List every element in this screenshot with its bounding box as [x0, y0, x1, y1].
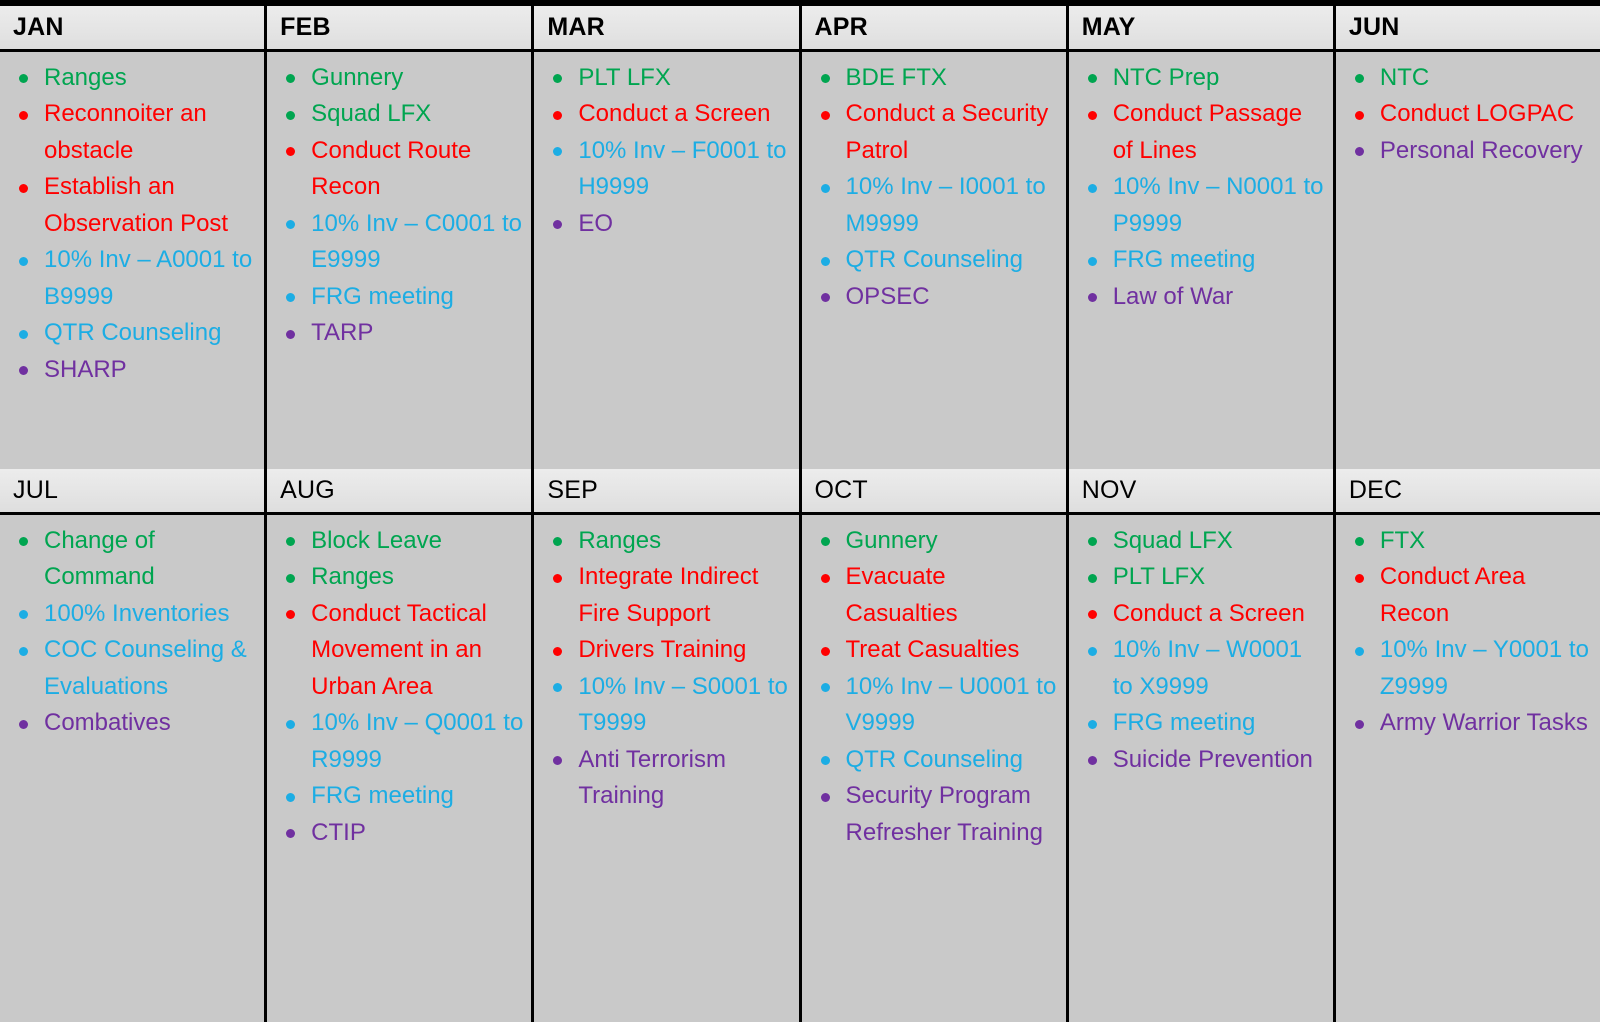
bullet-icon — [1088, 756, 1097, 765]
month-header-mar[interactable]: MAR — [534, 6, 801, 52]
month-header-band: JANFEBMARAPRMAYJUN — [0, 6, 1600, 52]
month-header-nov[interactable]: NOV — [1069, 469, 1336, 515]
task-label: 10% Inv – W0001 to X9999 — [1113, 632, 1327, 705]
task-list: NTCConduct LOGPACPersonal Recovery — [1342, 60, 1594, 169]
task-label: Gunnery — [311, 60, 525, 96]
calendar-row: JANFEBMARAPRMAYJUNRangesReconnoiter an o… — [0, 6, 1600, 469]
task-label: FRG meeting — [311, 279, 525, 315]
bullet-icon — [286, 537, 295, 546]
bullet-icon — [1355, 574, 1364, 583]
task-label: Conduct LOGPAC — [1380, 96, 1594, 132]
task-item[interactable]: QTR Counseling — [808, 742, 1060, 778]
month-body-band: RangesReconnoiter an obstacleEstablish a… — [0, 52, 1600, 469]
task-item[interactable]: Conduct Tactical Movement in an Urban Ar… — [273, 596, 525, 705]
task-label: NTC — [1380, 60, 1594, 96]
task-list: NTC PrepConduct Passage of Lines10% Inv … — [1075, 60, 1327, 315]
bullet-icon — [553, 74, 562, 83]
task-label: TARP — [311, 315, 525, 351]
bullet-icon — [1088, 111, 1097, 120]
task-label: 100% Inventories — [44, 596, 258, 632]
task-item[interactable]: Squad LFX — [1075, 523, 1327, 559]
bullet-icon — [19, 111, 28, 120]
bullet-icon — [286, 574, 295, 583]
task-label: 10% Inv – S0001 to T9999 — [578, 669, 792, 742]
task-item[interactable]: CTIP — [273, 815, 525, 851]
task-item[interactable]: FRG meeting — [273, 279, 525, 315]
task-item[interactable]: FRG meeting — [273, 778, 525, 814]
task-label: Integrate Indirect Fire Support — [578, 559, 792, 632]
task-label: QTR Counseling — [846, 242, 1060, 278]
task-label: Army Warrior Tasks — [1380, 705, 1594, 741]
task-label: Anti Terrorism Training — [578, 742, 792, 815]
task-item[interactable]: Gunnery — [808, 523, 1060, 559]
bullet-icon — [1355, 537, 1364, 546]
bullet-icon — [1088, 537, 1097, 546]
task-label: Drivers Training — [578, 632, 792, 668]
task-item[interactable]: Block Leave — [273, 523, 525, 559]
bullet-icon — [821, 74, 830, 83]
bullet-icon — [821, 574, 830, 583]
task-label: EO — [578, 206, 792, 242]
bullet-icon — [286, 720, 295, 729]
bullet-icon — [286, 829, 295, 838]
month-label: JAN — [13, 15, 64, 40]
task-item[interactable]: BDE FTX — [808, 60, 1060, 96]
task-label: Block Leave — [311, 523, 525, 559]
calendar-rows: JANFEBMARAPRMAYJUNRangesReconnoiter an o… — [0, 6, 1600, 1022]
task-item[interactable]: Integrate Indirect Fire Support — [540, 559, 792, 632]
task-item[interactable]: Law of War — [1075, 279, 1327, 315]
month-header-oct[interactable]: OCT — [802, 469, 1069, 515]
task-label: Conduct Passage of Lines — [1113, 96, 1327, 169]
task-label: Conduct a Screen — [1113, 596, 1327, 632]
task-item[interactable]: SHARP — [6, 352, 258, 388]
task-item[interactable]: 10% Inv – C0001 to E9999 — [273, 206, 525, 279]
task-label: Law of War — [1113, 279, 1327, 315]
month-body-band: Change of Command100% InventoriesCOC Cou… — [0, 515, 1600, 1022]
task-label: 10% Inv – U0001 to V9999 — [846, 669, 1060, 742]
bullet-icon — [1088, 610, 1097, 619]
month-cell-jan: RangesReconnoiter an obstacleEstablish a… — [0, 52, 267, 469]
task-item[interactable]: TARP — [273, 315, 525, 351]
task-list: Block LeaveRangesConduct Tactical Moveme… — [273, 523, 525, 851]
bullet-icon — [553, 147, 562, 156]
month-header-apr[interactable]: APR — [802, 6, 1069, 52]
task-list: GunneryEvacuate CasualtiesTreat Casualti… — [808, 523, 1060, 851]
bullet-icon — [553, 220, 562, 229]
bullet-icon — [1088, 257, 1097, 266]
task-label: Conduct a Security Patrol — [846, 96, 1060, 169]
bullet-icon — [821, 257, 830, 266]
task-label: 10% Inv – I0001 to M9999 — [846, 169, 1060, 242]
bullet-icon — [19, 366, 28, 375]
month-label: DEC — [1349, 478, 1402, 503]
task-label: Establish an Observation Post — [44, 169, 258, 242]
task-item[interactable]: 10% Inv – N0001 to P9999 — [1075, 169, 1327, 242]
bullet-icon — [1088, 720, 1097, 729]
task-label: Evacuate Casualties — [846, 559, 1060, 632]
task-label: COC Counseling & Evaluations — [44, 632, 258, 705]
task-item[interactable]: QTR Counseling — [808, 242, 1060, 278]
task-item[interactable]: Treat Casualties — [808, 632, 1060, 668]
month-header-jul[interactable]: JUL — [0, 469, 267, 515]
bullet-icon — [286, 293, 295, 302]
bullet-icon — [286, 330, 295, 339]
task-label: Security Program Refresher Training — [846, 778, 1060, 851]
task-item[interactable]: Personal Recovery — [1342, 133, 1594, 169]
training-calendar: JANFEBMARAPRMAYJUNRangesReconnoiter an o… — [0, 0, 1600, 1022]
bullet-icon — [821, 683, 830, 692]
task-item[interactable]: 10% Inv – Q0001 to R9999 — [273, 705, 525, 778]
month-label: JUN — [1349, 15, 1400, 40]
bullet-icon — [286, 74, 295, 83]
task-item[interactable]: Suicide Prevention — [1075, 742, 1327, 778]
month-header-aug[interactable]: AUG — [267, 469, 534, 515]
bullet-icon — [821, 111, 830, 120]
month-header-may[interactable]: MAY — [1069, 6, 1336, 52]
task-label: Conduct Tactical Movement in an Urban Ar… — [311, 596, 525, 705]
bullet-icon — [19, 720, 28, 729]
task-list: PLT LFXConduct a Screen10% Inv – F0001 t… — [540, 60, 792, 242]
task-item[interactable]: 10% Inv – Y0001 to Z9999 — [1342, 632, 1594, 705]
task-item[interactable]: Conduct a Security Patrol — [808, 96, 1060, 169]
month-label: APR — [815, 15, 868, 40]
task-item[interactable]: Gunnery — [273, 60, 525, 96]
bullet-icon — [19, 184, 28, 193]
task-label: FRG meeting — [1113, 705, 1327, 741]
month-label: AUG — [280, 478, 335, 503]
task-label: Reconnoiter an obstacle — [44, 96, 258, 169]
bullet-icon — [286, 220, 295, 229]
month-label: SEP — [547, 478, 598, 503]
bullet-icon — [1088, 74, 1097, 83]
task-label: PLT LFX — [578, 60, 792, 96]
task-list: BDE FTXConduct a Security Patrol10% Inv … — [808, 60, 1060, 315]
task-item[interactable]: NTC — [1342, 60, 1594, 96]
bullet-icon — [553, 647, 562, 656]
bullet-icon — [553, 574, 562, 583]
bullet-icon — [1088, 184, 1097, 193]
bullet-icon — [553, 111, 562, 120]
month-header-jun[interactable]: JUN — [1336, 6, 1600, 52]
month-label: NOV — [1082, 478, 1137, 503]
task-label: BDE FTX — [846, 60, 1060, 96]
task-list: GunnerySquad LFXConduct Route Recon10% I… — [273, 60, 525, 352]
month-header-sep[interactable]: SEP — [534, 469, 801, 515]
bullet-icon — [1355, 147, 1364, 156]
task-item[interactable]: Combatives — [6, 705, 258, 741]
task-item[interactable]: Ranges — [273, 559, 525, 595]
task-label: Conduct Area Recon — [1380, 559, 1594, 632]
bullet-icon — [286, 111, 295, 120]
task-item[interactable]: OPSEC — [808, 279, 1060, 315]
task-item[interactable]: EO — [540, 206, 792, 242]
bullet-icon — [821, 756, 830, 765]
task-label: FTX — [1380, 523, 1594, 559]
task-label: Ranges — [311, 559, 525, 595]
bullet-icon — [821, 293, 830, 302]
month-cell-may: NTC PrepConduct Passage of Lines10% Inv … — [1069, 52, 1336, 469]
task-item[interactable]: Squad LFX — [273, 96, 525, 132]
bullet-icon — [1355, 647, 1364, 656]
task-label: OPSEC — [846, 279, 1060, 315]
bullet-icon — [286, 610, 295, 619]
month-label: MAR — [547, 15, 605, 40]
task-item[interactable]: Army Warrior Tasks — [1342, 705, 1594, 741]
month-cell-sep: RangesIntegrate Indirect Fire SupportDri… — [534, 515, 801, 1022]
bullet-icon — [286, 147, 295, 156]
month-cell-mar: PLT LFXConduct a Screen10% Inv – F0001 t… — [534, 52, 801, 469]
bullet-icon — [19, 257, 28, 266]
bullet-icon — [1088, 574, 1097, 583]
bullet-icon — [19, 537, 28, 546]
task-item[interactable]: Drivers Training — [540, 632, 792, 668]
month-cell-dec: FTXConduct Area Recon10% Inv – Y0001 to … — [1336, 515, 1600, 1022]
task-label: Squad LFX — [311, 96, 525, 132]
task-item[interactable]: NTC Prep — [1075, 60, 1327, 96]
task-list: RangesReconnoiter an obstacleEstablish a… — [6, 60, 258, 388]
task-item[interactable]: Evacuate Casualties — [808, 559, 1060, 632]
task-label: 10% Inv – C0001 to E9999 — [311, 206, 525, 279]
month-cell-feb: GunnerySquad LFXConduct Route Recon10% I… — [267, 52, 534, 469]
month-cell-apr: BDE FTXConduct a Security Patrol10% Inv … — [802, 52, 1069, 469]
task-item[interactable]: 10% Inv – A0001 to B9999 — [6, 242, 258, 315]
task-label: FRG meeting — [1113, 242, 1327, 278]
task-item[interactable]: FRG meeting — [1075, 242, 1327, 278]
bullet-icon — [19, 610, 28, 619]
bullet-icon — [821, 184, 830, 193]
bullet-icon — [1355, 720, 1364, 729]
month-label: MAY — [1082, 15, 1136, 40]
task-label: Change of Command — [44, 523, 258, 596]
task-label: CTIP — [311, 815, 525, 851]
month-label: JUL — [13, 478, 58, 503]
month-header-dec[interactable]: DEC — [1336, 469, 1600, 515]
task-list: Change of Command100% InventoriesCOC Cou… — [6, 523, 258, 742]
task-label: QTR Counseling — [846, 742, 1060, 778]
task-label: Squad LFX — [1113, 523, 1327, 559]
task-item[interactable]: Security Program Refresher Training — [808, 778, 1060, 851]
bullet-icon — [1355, 111, 1364, 120]
task-label: Treat Casualties — [846, 632, 1060, 668]
bullet-icon — [19, 330, 28, 339]
task-label: Ranges — [44, 60, 258, 96]
bullet-icon — [553, 683, 562, 692]
task-item[interactable]: 100% Inventories — [6, 596, 258, 632]
task-item[interactable]: Conduct Route Recon — [273, 133, 525, 206]
task-item[interactable]: Ranges — [6, 60, 258, 96]
task-item[interactable]: 10% Inv – S0001 to T9999 — [540, 669, 792, 742]
month-cell-aug: Block LeaveRangesConduct Tactical Moveme… — [267, 515, 534, 1022]
month-header-band: JULAUGSEPOCTNOVDEC — [0, 469, 1600, 515]
task-item[interactable]: Anti Terrorism Training — [540, 742, 792, 815]
task-item[interactable]: 10% Inv – F0001 to H9999 — [540, 133, 792, 206]
task-label: Conduct a Screen — [578, 96, 792, 132]
month-header-feb[interactable]: FEB — [267, 6, 534, 52]
task-item[interactable]: Ranges — [540, 523, 792, 559]
task-item[interactable]: COC Counseling & Evaluations — [6, 632, 258, 705]
task-label: NTC Prep — [1113, 60, 1327, 96]
task-label: Suicide Prevention — [1113, 742, 1327, 778]
bullet-icon — [1088, 293, 1097, 302]
month-cell-jun: NTCConduct LOGPACPersonal Recovery — [1336, 52, 1600, 469]
month-cell-jul: Change of Command100% InventoriesCOC Cou… — [0, 515, 267, 1022]
task-label: 10% Inv – N0001 to P9999 — [1113, 169, 1327, 242]
task-list: FTXConduct Area Recon10% Inv – Y0001 to … — [1342, 523, 1594, 742]
bullet-icon — [821, 537, 830, 546]
bullet-icon — [19, 647, 28, 656]
bullet-icon — [1088, 647, 1097, 656]
task-label: 10% Inv – Q0001 to R9999 — [311, 705, 525, 778]
bullet-icon — [1355, 74, 1364, 83]
task-label: Ranges — [578, 523, 792, 559]
task-label: 10% Inv – A0001 to B9999 — [44, 242, 258, 315]
bullet-icon — [286, 793, 295, 802]
task-item[interactable]: FTX — [1342, 523, 1594, 559]
task-item[interactable]: Conduct a Screen — [540, 96, 792, 132]
task-label: Personal Recovery — [1380, 133, 1594, 169]
task-label: SHARP — [44, 352, 258, 388]
bullet-icon — [19, 74, 28, 83]
task-item[interactable]: Conduct a Screen — [1075, 596, 1327, 632]
task-label: FRG meeting — [311, 778, 525, 814]
task-label: QTR Counseling — [44, 315, 258, 351]
task-list: Squad LFXPLT LFXConduct a Screen10% Inv … — [1075, 523, 1327, 778]
task-label: Gunnery — [846, 523, 1060, 559]
task-item[interactable]: Conduct LOGPAC — [1342, 96, 1594, 132]
task-item[interactable]: FRG meeting — [1075, 705, 1327, 741]
task-item[interactable]: Conduct Area Recon — [1342, 559, 1594, 632]
task-label: 10% Inv – Y0001 to Z9999 — [1380, 632, 1594, 705]
bullet-icon — [821, 647, 830, 656]
month-label: FEB — [280, 15, 331, 40]
month-label: OCT — [815, 478, 868, 503]
task-item[interactable]: Change of Command — [6, 523, 258, 596]
task-label: Combatives — [44, 705, 258, 741]
task-item[interactable]: 10% Inv – W0001 to X9999 — [1075, 632, 1327, 705]
month-cell-nov: Squad LFXPLT LFXConduct a Screen10% Inv … — [1069, 515, 1336, 1022]
task-item[interactable]: QTR Counseling — [6, 315, 258, 351]
month-header-jan[interactable]: JAN — [0, 6, 267, 52]
task-item[interactable]: Conduct Passage of Lines — [1075, 96, 1327, 169]
bullet-icon — [553, 537, 562, 546]
task-item[interactable]: PLT LFX — [1075, 559, 1327, 595]
task-label: PLT LFX — [1113, 559, 1327, 595]
task-item[interactable]: 10% Inv – U0001 to V9999 — [808, 669, 1060, 742]
task-item[interactable]: 10% Inv – I0001 to M9999 — [808, 169, 1060, 242]
task-label: Conduct Route Recon — [311, 133, 525, 206]
calendar-row: JULAUGSEPOCTNOVDECChange of Command100% … — [0, 469, 1600, 1022]
task-list: RangesIntegrate Indirect Fire SupportDri… — [540, 523, 792, 815]
task-label: 10% Inv – F0001 to H9999 — [578, 133, 792, 206]
task-item[interactable]: PLT LFX — [540, 60, 792, 96]
month-cell-oct: GunneryEvacuate CasualtiesTreat Casualti… — [802, 515, 1069, 1022]
task-item[interactable]: Reconnoiter an obstacle — [6, 96, 258, 169]
bullet-icon — [553, 756, 562, 765]
bullet-icon — [821, 793, 830, 802]
task-item[interactable]: Establish an Observation Post — [6, 169, 258, 242]
